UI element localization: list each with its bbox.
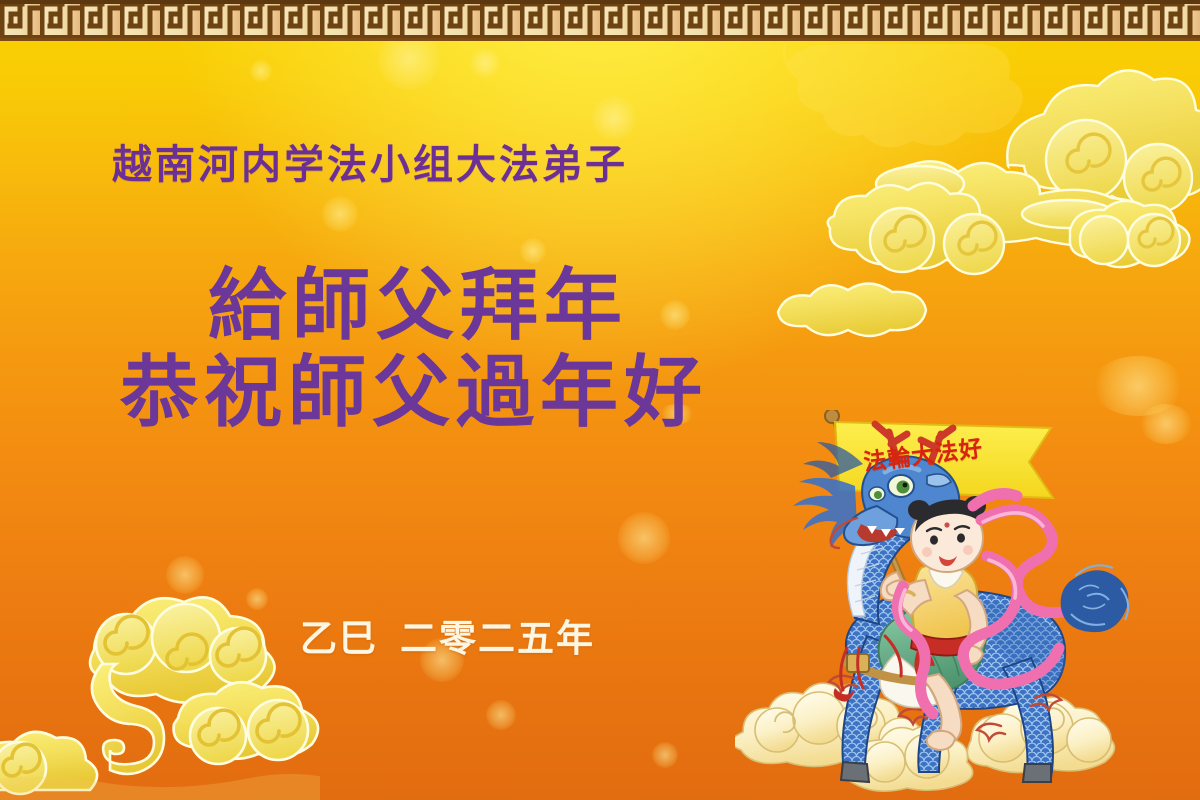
bokeh-dot (618, 512, 670, 564)
date-year: 二零二五年 (400, 618, 595, 659)
sender-line: 越南河内学法小组大法弟子 (112, 132, 628, 190)
child-riding-dragon-illustration (735, 410, 1200, 800)
bokeh-dot (652, 742, 678, 768)
bokeh-dot (1092, 356, 1184, 416)
greek-key-border (0, 0, 1200, 41)
date-line: 乙巳二零二五年 (300, 608, 595, 662)
bokeh-dot (250, 60, 272, 82)
greeting-line-1: 給師父拜年 (120, 262, 708, 349)
greeting-line-2: 恭祝師父過年好 (120, 349, 708, 436)
bokeh-dot (246, 588, 268, 610)
bottom-left-cloud-group (0, 578, 320, 800)
bokeh-dot (486, 700, 516, 730)
bokeh-dot (470, 48, 500, 78)
new-year-greeting-card: 越南河内学法小组大法弟子 給師父拜年 恭祝師父過年好 乙巳二零二五年 (0, 0, 1200, 800)
greek-key-meander-pattern (0, 0, 1200, 38)
greeting-block: 給師父拜年 恭祝師父過年好 (120, 262, 708, 437)
date-cyclical: 乙巳 (300, 618, 378, 659)
bokeh-dot (166, 556, 204, 594)
bokeh-dot (322, 196, 358, 232)
dragon-tail (1061, 565, 1129, 632)
top-right-cloud-group (762, 44, 1200, 360)
